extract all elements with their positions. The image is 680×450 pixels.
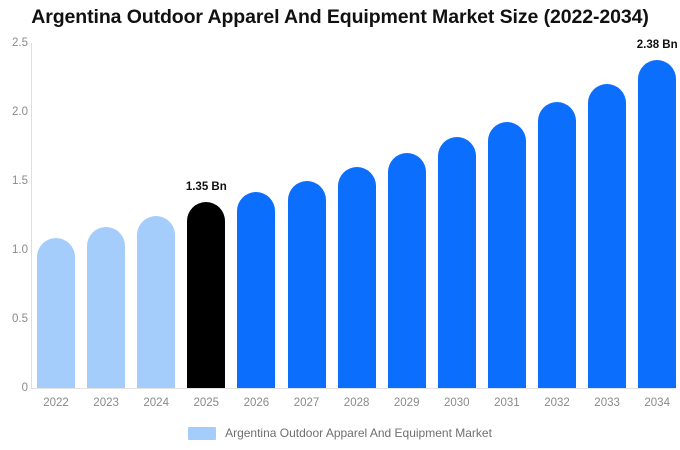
bar-2030[interactable] (438, 137, 476, 388)
bar-2026[interactable] (237, 192, 275, 388)
bar-value-label-2034: 2.38 Bn (637, 39, 678, 51)
legend-swatch (188, 427, 216, 440)
bar-2029[interactable] (388, 153, 426, 388)
bars-layer: 20222023202420251.35 Bn20262027202820292… (0, 0, 680, 450)
legend-label: Argentina Outdoor Apparel And Equipment … (225, 426, 492, 440)
x-tick-label-2023: 2023 (93, 397, 119, 409)
bar-2024[interactable] (137, 216, 175, 389)
x-tick-label-2032: 2032 (544, 397, 570, 409)
bar-2025[interactable] (187, 202, 225, 388)
x-tick-label-2022: 2022 (43, 397, 69, 409)
bar-2033[interactable] (588, 84, 626, 388)
bar-value-label-2025: 1.35 Bn (186, 181, 227, 193)
bar-2022[interactable] (37, 238, 75, 388)
x-tick-label-2031: 2031 (494, 397, 520, 409)
bar-2032[interactable] (538, 102, 576, 388)
x-tick-label-2029: 2029 (394, 397, 420, 409)
bar-2028[interactable] (338, 167, 376, 388)
x-tick-label-2025: 2025 (194, 397, 220, 409)
x-tick-label-2026: 2026 (244, 397, 270, 409)
x-tick-label-2028: 2028 (344, 397, 370, 409)
x-tick-label-2034: 2034 (644, 397, 670, 409)
x-tick-label-2033: 2033 (594, 397, 620, 409)
bar-2034[interactable] (638, 60, 676, 388)
x-tick-label-2024: 2024 (143, 397, 169, 409)
bar-2023[interactable] (87, 227, 125, 388)
bar-chart: Argentina Outdoor Apparel And Equipment … (0, 0, 680, 450)
x-tick-label-2027: 2027 (294, 397, 320, 409)
bar-2027[interactable] (288, 181, 326, 388)
chart-legend: Argentina Outdoor Apparel And Equipment … (0, 426, 680, 440)
x-tick-label-2030: 2030 (444, 397, 470, 409)
bar-2031[interactable] (488, 122, 526, 388)
